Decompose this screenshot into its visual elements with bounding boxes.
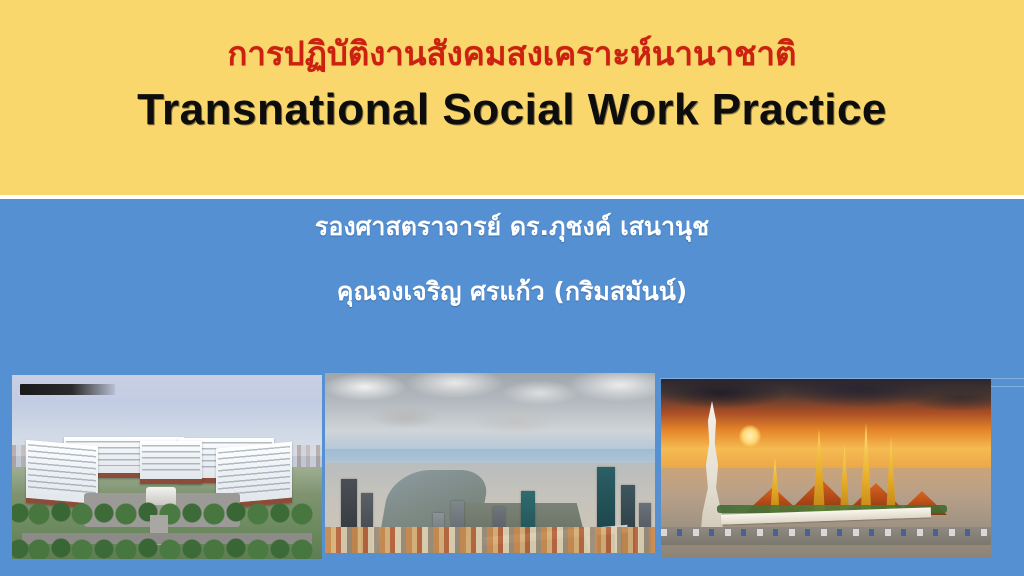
campus-scene xyxy=(12,375,322,559)
river-low-rise-roofs xyxy=(325,527,655,553)
presenter-list: รองศาสตราจารย์ ดร.ภุชงค์ เสนานุช คุณจงเจ… xyxy=(0,213,1024,307)
sun-icon xyxy=(739,425,761,447)
campus-building-center xyxy=(140,441,202,484)
slide-title-english: Transnational Social Work Practice xyxy=(137,86,887,134)
presenter-name-primary: รองศาสตราจารย์ ดร.ภุชงค์ เสนานุช xyxy=(0,213,1024,242)
title-band: การปฏิบัติงานสังคมสงเคราะห์นานาชาติ Tran… xyxy=(0,0,1024,195)
slide-title-thai: การปฏิบัติงานสังคมสงเคราะห์นานาชาติ xyxy=(228,36,797,72)
presentation-slide: การปฏิบัติงานสังคมสงเคราะห์นานาชาติ Tran… xyxy=(0,0,1024,576)
palace-road-traffic xyxy=(661,529,991,536)
presenter-name-secondary: คุณจงเจริญ ศรแก้ว (กริมสมันน์) xyxy=(0,278,1024,307)
river-scene xyxy=(325,373,655,553)
palace-scene xyxy=(661,379,991,557)
campus-tree-row-lower xyxy=(12,537,322,559)
photo-bangkok-river xyxy=(325,373,655,553)
photo-university-campus xyxy=(12,375,322,559)
photo-grand-palace xyxy=(661,379,991,557)
river-cloudy-sky xyxy=(325,373,655,458)
campus-photo-watermark xyxy=(20,384,115,395)
